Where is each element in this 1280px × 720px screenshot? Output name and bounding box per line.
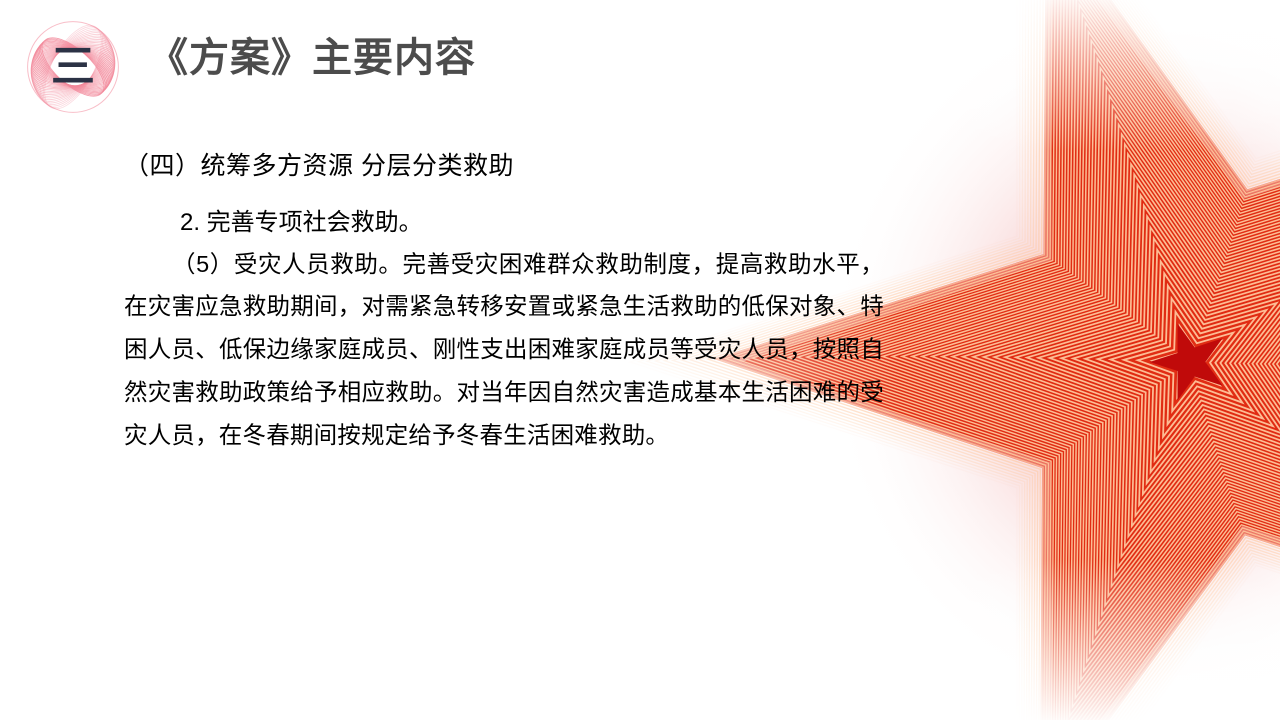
slide-header: 三 《方案》主要内容 [0,0,1280,140]
body-paragraph: （5）受灾人员救助。完善受灾困难群众救助制度，提高救助水平，在灾害应急救助期间，… [124,243,884,457]
section-number-badge: 三 [24,18,122,116]
page-title: 《方案》主要内容 [148,34,476,82]
slide-body: （四）统筹多方资源 分层分类救助 2. 完善专项社会救助。 （5）受灾人员救助。… [124,150,884,456]
sub-heading: 2. 完善专项社会救助。 [124,206,884,241]
section-heading: （四）统筹多方资源 分层分类救助 [124,150,884,184]
badge-number-label: 三 [24,18,122,116]
slide-canvas: 三 《方案》主要内容 （四）统筹多方资源 分层分类救助 2. 完善专项社会救助。… [0,0,1280,720]
